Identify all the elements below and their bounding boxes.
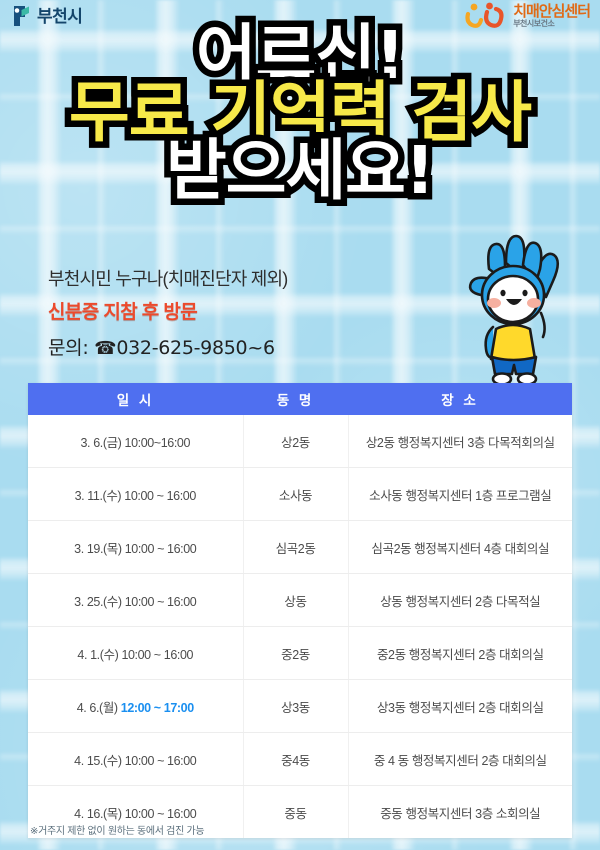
cell-place: 중 4 동 행정복지센터 2층 대회의실 — [348, 733, 572, 786]
waving-hand-mascot-icon — [449, 233, 571, 385]
footnote: ※거주지 제한 없이 원하는 동에서 검진 가능 — [30, 822, 204, 837]
table-row: 3. 19.(목) 10:00 ~ 16:00심곡2동심곡2동 행정복지센터 4… — [28, 521, 572, 574]
cell-place: 상2동 행정복지센터 3층 다목적회의실 — [348, 415, 572, 468]
phone-number: 032-625-9850~6 — [116, 337, 274, 359]
table-header-row: 일 시 동 명 장 소 — [28, 383, 572, 415]
schedule-table-wrapper: 일 시 동 명 장 소 3. 6.(금) 10:00~16:00상2동상2동 행… — [28, 383, 572, 838]
cell-date-time: 10:00~16:00 — [125, 436, 190, 450]
contact-line: 문의: ☎032-625-9850~6 — [48, 338, 468, 359]
cell-place: 중2동 행정복지센터 2층 대회의실 — [348, 627, 572, 680]
table-row: 3. 11.(수) 10:00 ~ 16:00소사동소사동 행정복지센터 1층 … — [28, 468, 572, 521]
column-header-dong: 동 명 — [243, 383, 348, 415]
schedule-table-head: 일 시 동 명 장 소 — [28, 383, 572, 415]
title-line-3: 받으세요! — [0, 139, 600, 202]
cell-date-day: 4. 16.(목) — [74, 807, 125, 821]
cell-date-day: 4. 15.(수) — [74, 754, 125, 768]
cell-date-day: 4. 6.(월) — [77, 701, 121, 715]
cell-date: 3. 25.(수) 10:00 ~ 16:00 — [28, 574, 243, 627]
cell-date-time: 10:00 ~ 16:00 — [121, 648, 193, 662]
cell-date-time: 10:00 ~ 16:00 — [125, 754, 197, 768]
cell-date-time: 10:00 ~ 16:00 — [124, 489, 196, 503]
cell-date: 4. 6.(월) 12:00 ~ 17:00 — [28, 680, 243, 733]
poster-title: 어르신! 무료 기억력 검사 받으세요! — [0, 24, 600, 202]
cell-dong: 중4동 — [243, 733, 348, 786]
cell-date-time: 10:00 ~ 16:00 — [125, 807, 197, 821]
cell-date-time: 12:00 ~ 17:00 — [121, 701, 194, 715]
cell-date-day: 3. 11.(수) — [75, 489, 125, 503]
cell-dong: 중동 — [243, 786, 348, 839]
cell-place: 심곡2동 행정복지센터 4층 대회의실 — [348, 521, 572, 574]
cell-dong: 상동 — [243, 574, 348, 627]
dementia-center-title: 치매안심센터 — [513, 4, 590, 19]
cell-dong: 상2동 — [243, 415, 348, 468]
table-row: 3. 25.(수) 10:00 ~ 16:00상동상동 행정복지센터 2층 다목… — [28, 574, 572, 627]
bucheon-city-label: 부천시 — [37, 8, 82, 25]
table-row: 4. 1.(수) 10:00 ~ 16:00중2동중2동 행정복지센터 2층 대… — [28, 627, 572, 680]
column-header-place: 장 소 — [348, 383, 572, 415]
cell-place: 상동 행정복지센터 2층 다목적실 — [348, 574, 572, 627]
info-block: 부천시민 누구나(치매진단자 제외) 신분증 지참 후 방문 문의: ☎032-… — [48, 270, 468, 359]
cell-date-time: 10:00 ~ 16:00 — [125, 595, 197, 609]
cell-date: 4. 15.(수) 10:00 ~ 16:00 — [28, 733, 243, 786]
table-row: 4. 15.(수) 10:00 ~ 16:00중4동중 4 동 행정복지센터 2… — [28, 733, 572, 786]
telephone-icon: ☎ — [94, 338, 116, 359]
cell-dong: 심곡2동 — [243, 521, 348, 574]
schedule-table: 일 시 동 명 장 소 3. 6.(금) 10:00~16:00상2동상2동 행… — [28, 383, 572, 838]
cell-date-day: 3. 6.(금) — [81, 436, 125, 450]
cell-date: 3. 11.(수) 10:00 ~ 16:00 — [28, 468, 243, 521]
cell-place: 소사동 행정복지센터 1층 프로그램실 — [348, 468, 572, 521]
cell-place: 중동 행정복지센터 3층 소회의실 — [348, 786, 572, 839]
cell-date: 4. 1.(수) 10:00 ~ 16:00 — [28, 627, 243, 680]
cell-dong: 상3동 — [243, 680, 348, 733]
cell-date: 3. 19.(목) 10:00 ~ 16:00 — [28, 521, 243, 574]
cell-date-day: 3. 25.(수) — [74, 595, 125, 609]
table-row: 3. 6.(금) 10:00~16:00상2동상2동 행정복지센터 3층 다목적… — [28, 415, 572, 468]
cell-date: 3. 6.(금) 10:00~16:00 — [28, 415, 243, 468]
poster-root: 부천시 치매안심센터 부천시보건소 어르신! 무료 기억력 검사 받으세요! 부… — [0, 0, 600, 850]
cell-dong: 소사동 — [243, 468, 348, 521]
cell-dong: 중2동 — [243, 627, 348, 680]
cell-date-time: 10:00 ~ 16:00 — [125, 542, 197, 556]
eligibility-text: 부천시민 누구나(치매진단자 제외) — [48, 270, 468, 290]
cell-place: 상3동 행정복지센터 2층 대회의실 — [348, 680, 572, 733]
table-row: 4. 6.(월) 12:00 ~ 17:00상3동상3동 행정복지센터 2층 대… — [28, 680, 572, 733]
cell-date-day: 3. 19.(목) — [74, 542, 125, 556]
schedule-table-body: 3. 6.(금) 10:00~16:00상2동상2동 행정복지센터 3층 다목적… — [28, 415, 572, 838]
column-header-date: 일 시 — [28, 383, 243, 415]
id-notice-text: 신분증 지참 후 방문 — [48, 303, 468, 324]
cell-date-day: 4. 1.(수) — [77, 648, 121, 662]
contact-label: 문의: — [48, 337, 88, 359]
